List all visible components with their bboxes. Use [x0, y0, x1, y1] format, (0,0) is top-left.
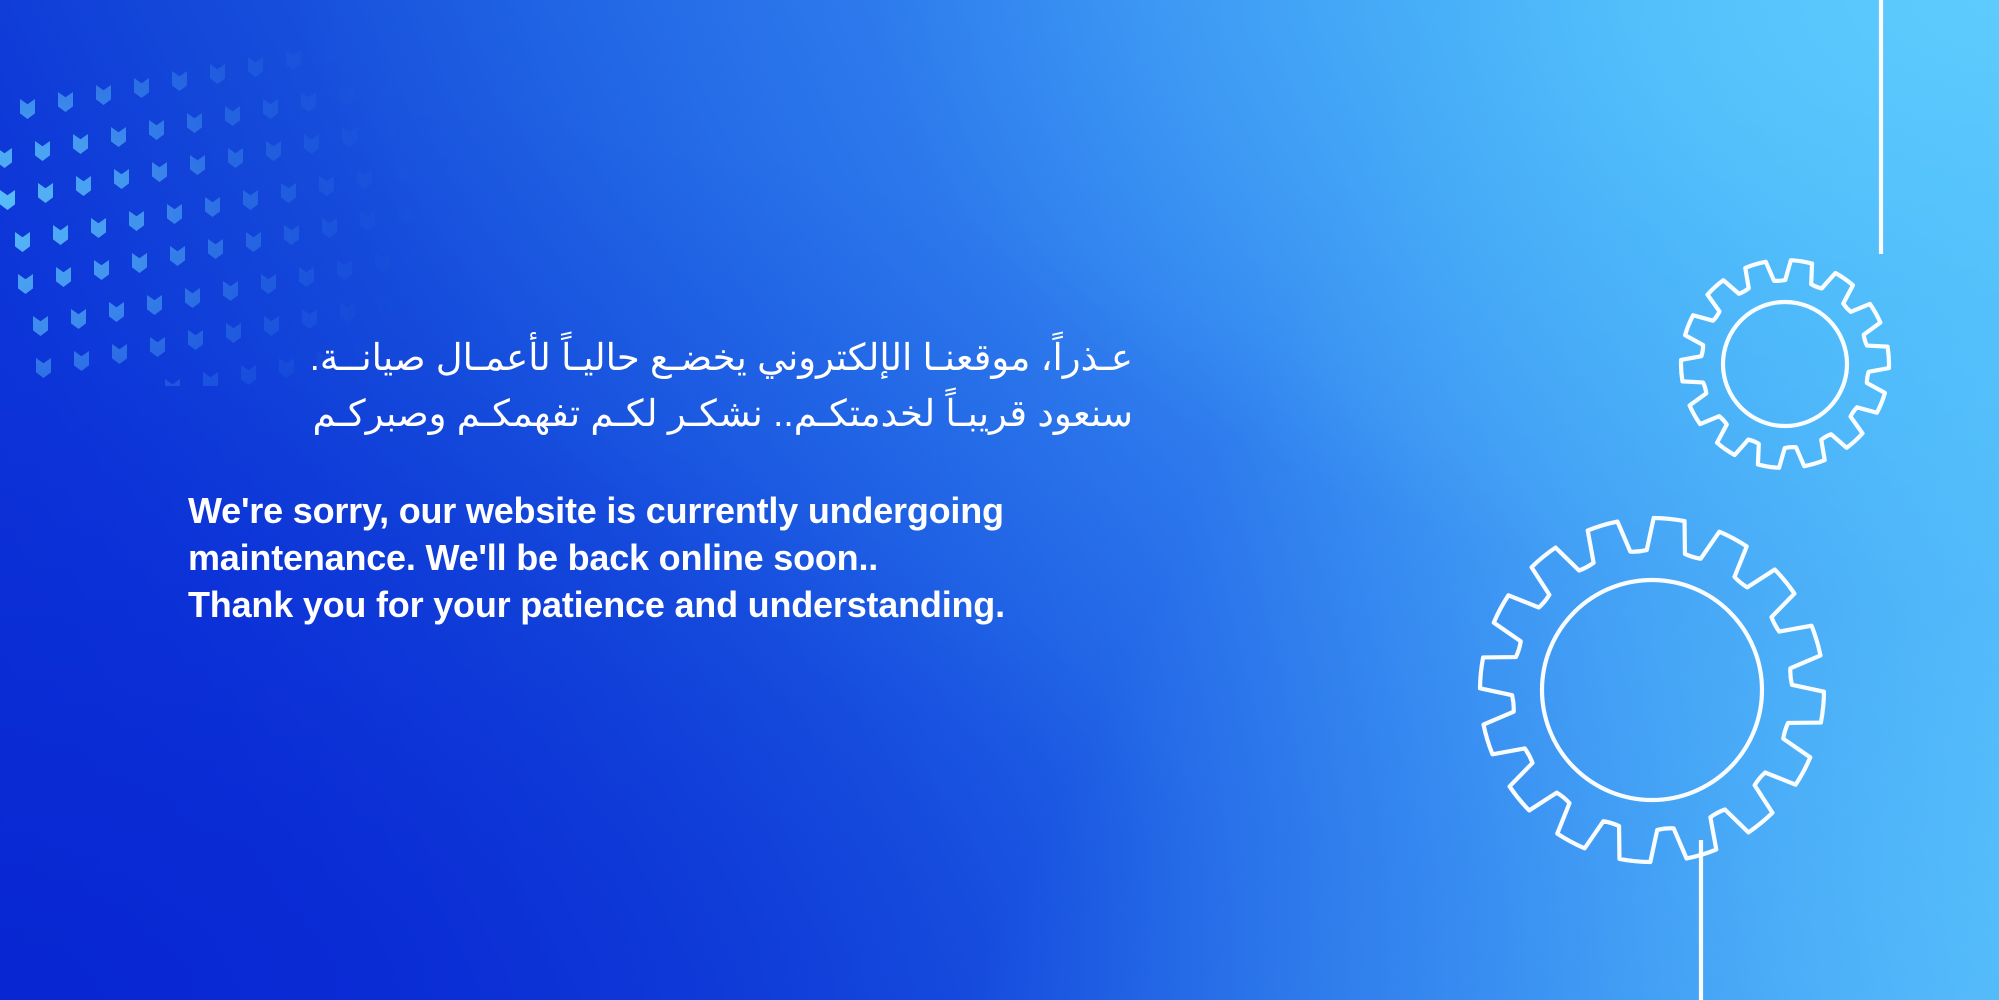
arabic-line-1: عـذراً، موقعنـا الإلكتروني يخضـع حاليـاً… — [188, 330, 1133, 386]
english-line-2: maintenance. We'll be back online soon.. — [188, 535, 1188, 582]
english-line-3: Thank you for your patience and understa… — [188, 582, 1188, 629]
arabic-message: عـذراً، موقعنـا الإلكتروني يخضـع حاليـاً… — [188, 330, 1133, 442]
message-block: عـذراً، موقعنـا الإلكتروني يخضـع حاليـاً… — [188, 330, 1188, 629]
arabic-line-2: سنعود قريبـاً لخدمتكـم.. نشكـر لكـم تفهم… — [188, 386, 1133, 442]
english-message: We're sorry, our website is currently un… — [188, 488, 1188, 628]
english-line-1: We're sorry, our website is currently un… — [188, 488, 1188, 535]
maintenance-page: عـذراً، موقعنـا الإلكتروني يخضـع حاليـاً… — [0, 0, 1999, 1000]
